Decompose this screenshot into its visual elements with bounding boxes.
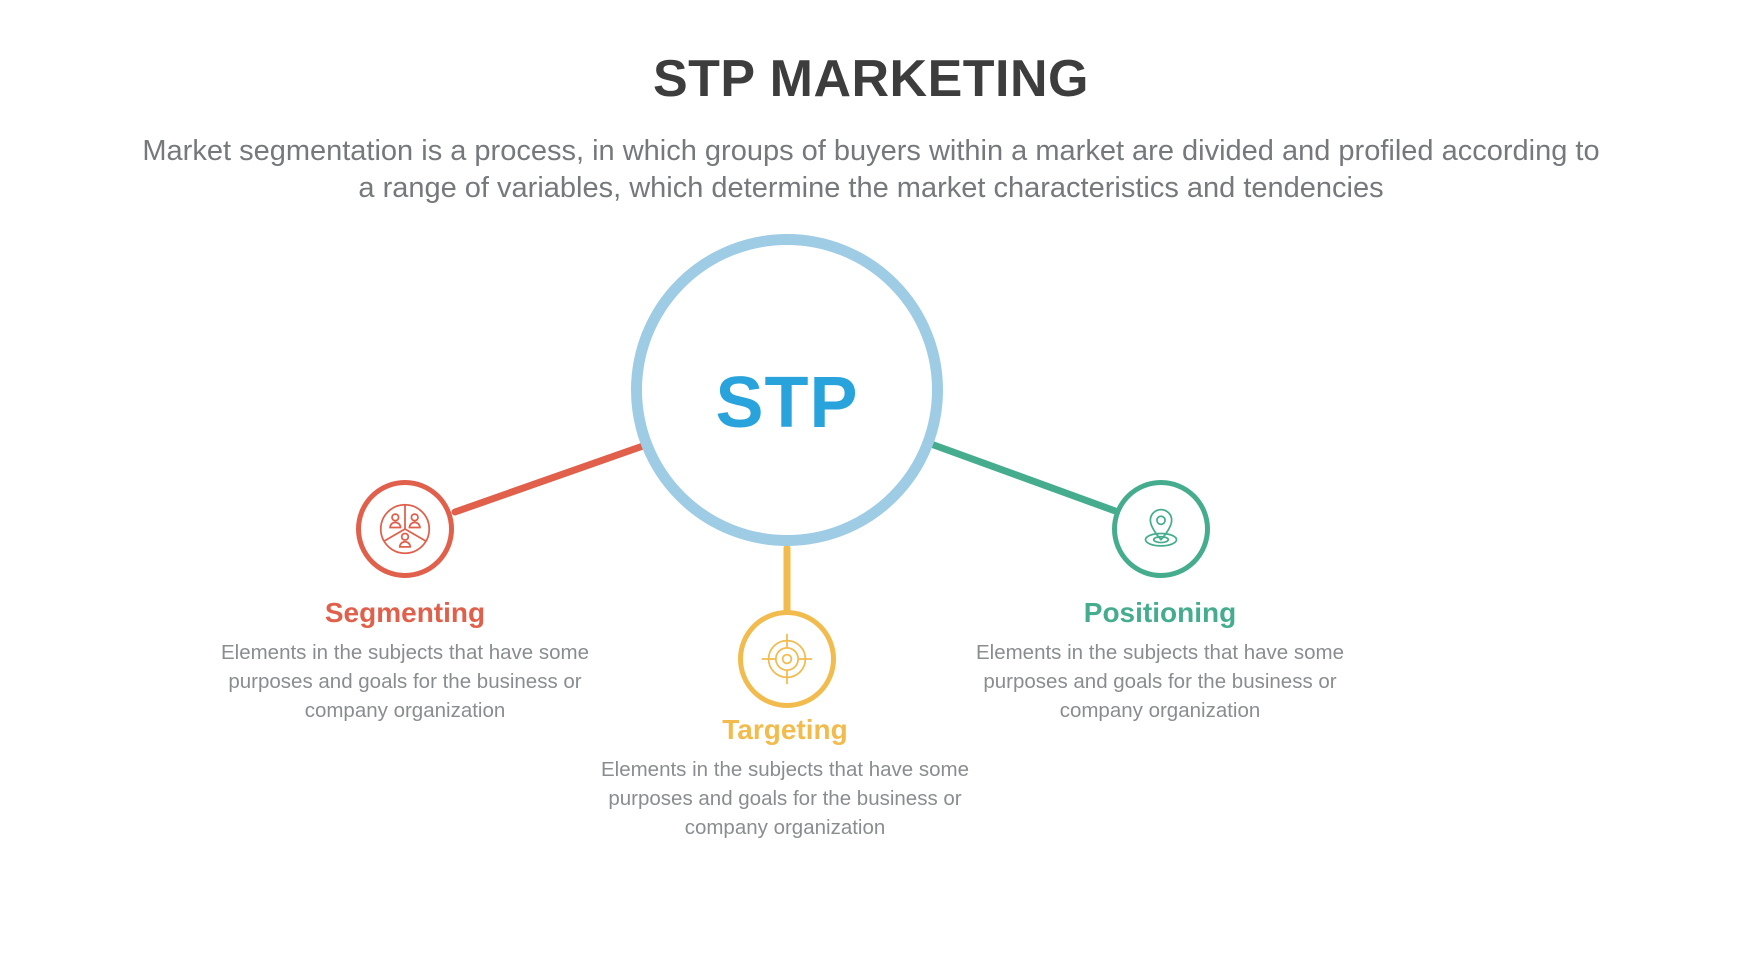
center-hub-circle[interactable]: STP bbox=[631, 234, 943, 546]
node-title-segmenting: Segmenting bbox=[195, 596, 615, 630]
node-text-targeting: Targeting Elements in the subjects that … bbox=[575, 713, 995, 842]
node-description-segmenting: Elements in the subjects that have some … bbox=[195, 638, 615, 725]
node-circle-targeting[interactable] bbox=[738, 610, 836, 708]
crosshair-target-icon bbox=[756, 628, 818, 690]
connector-hub-to-positioning bbox=[920, 440, 1118, 512]
people-segments-pie-icon bbox=[374, 498, 436, 560]
node-circle-segmenting[interactable] bbox=[356, 480, 454, 578]
map-pin-location-icon bbox=[1130, 498, 1192, 560]
node-title-targeting: Targeting bbox=[575, 713, 995, 747]
node-title-positioning: Positioning bbox=[950, 596, 1370, 630]
center-hub-label: STP bbox=[715, 367, 858, 439]
stp-diagram: STP bbox=[0, 0, 1742, 980]
node-description-targeting: Elements in the subjects that have some … bbox=[575, 755, 995, 842]
node-text-segmenting: Segmenting Elements in the subjects that… bbox=[195, 596, 615, 725]
node-description-positioning: Elements in the subjects that have some … bbox=[950, 638, 1370, 725]
node-text-positioning: Positioning Elements in the subjects tha… bbox=[950, 596, 1370, 725]
node-circle-positioning[interactable] bbox=[1112, 480, 1210, 578]
infographic-canvas: STP MARKETING Market segmentation is a p… bbox=[0, 0, 1742, 980]
connector-hub-to-segmenting bbox=[455, 440, 660, 512]
